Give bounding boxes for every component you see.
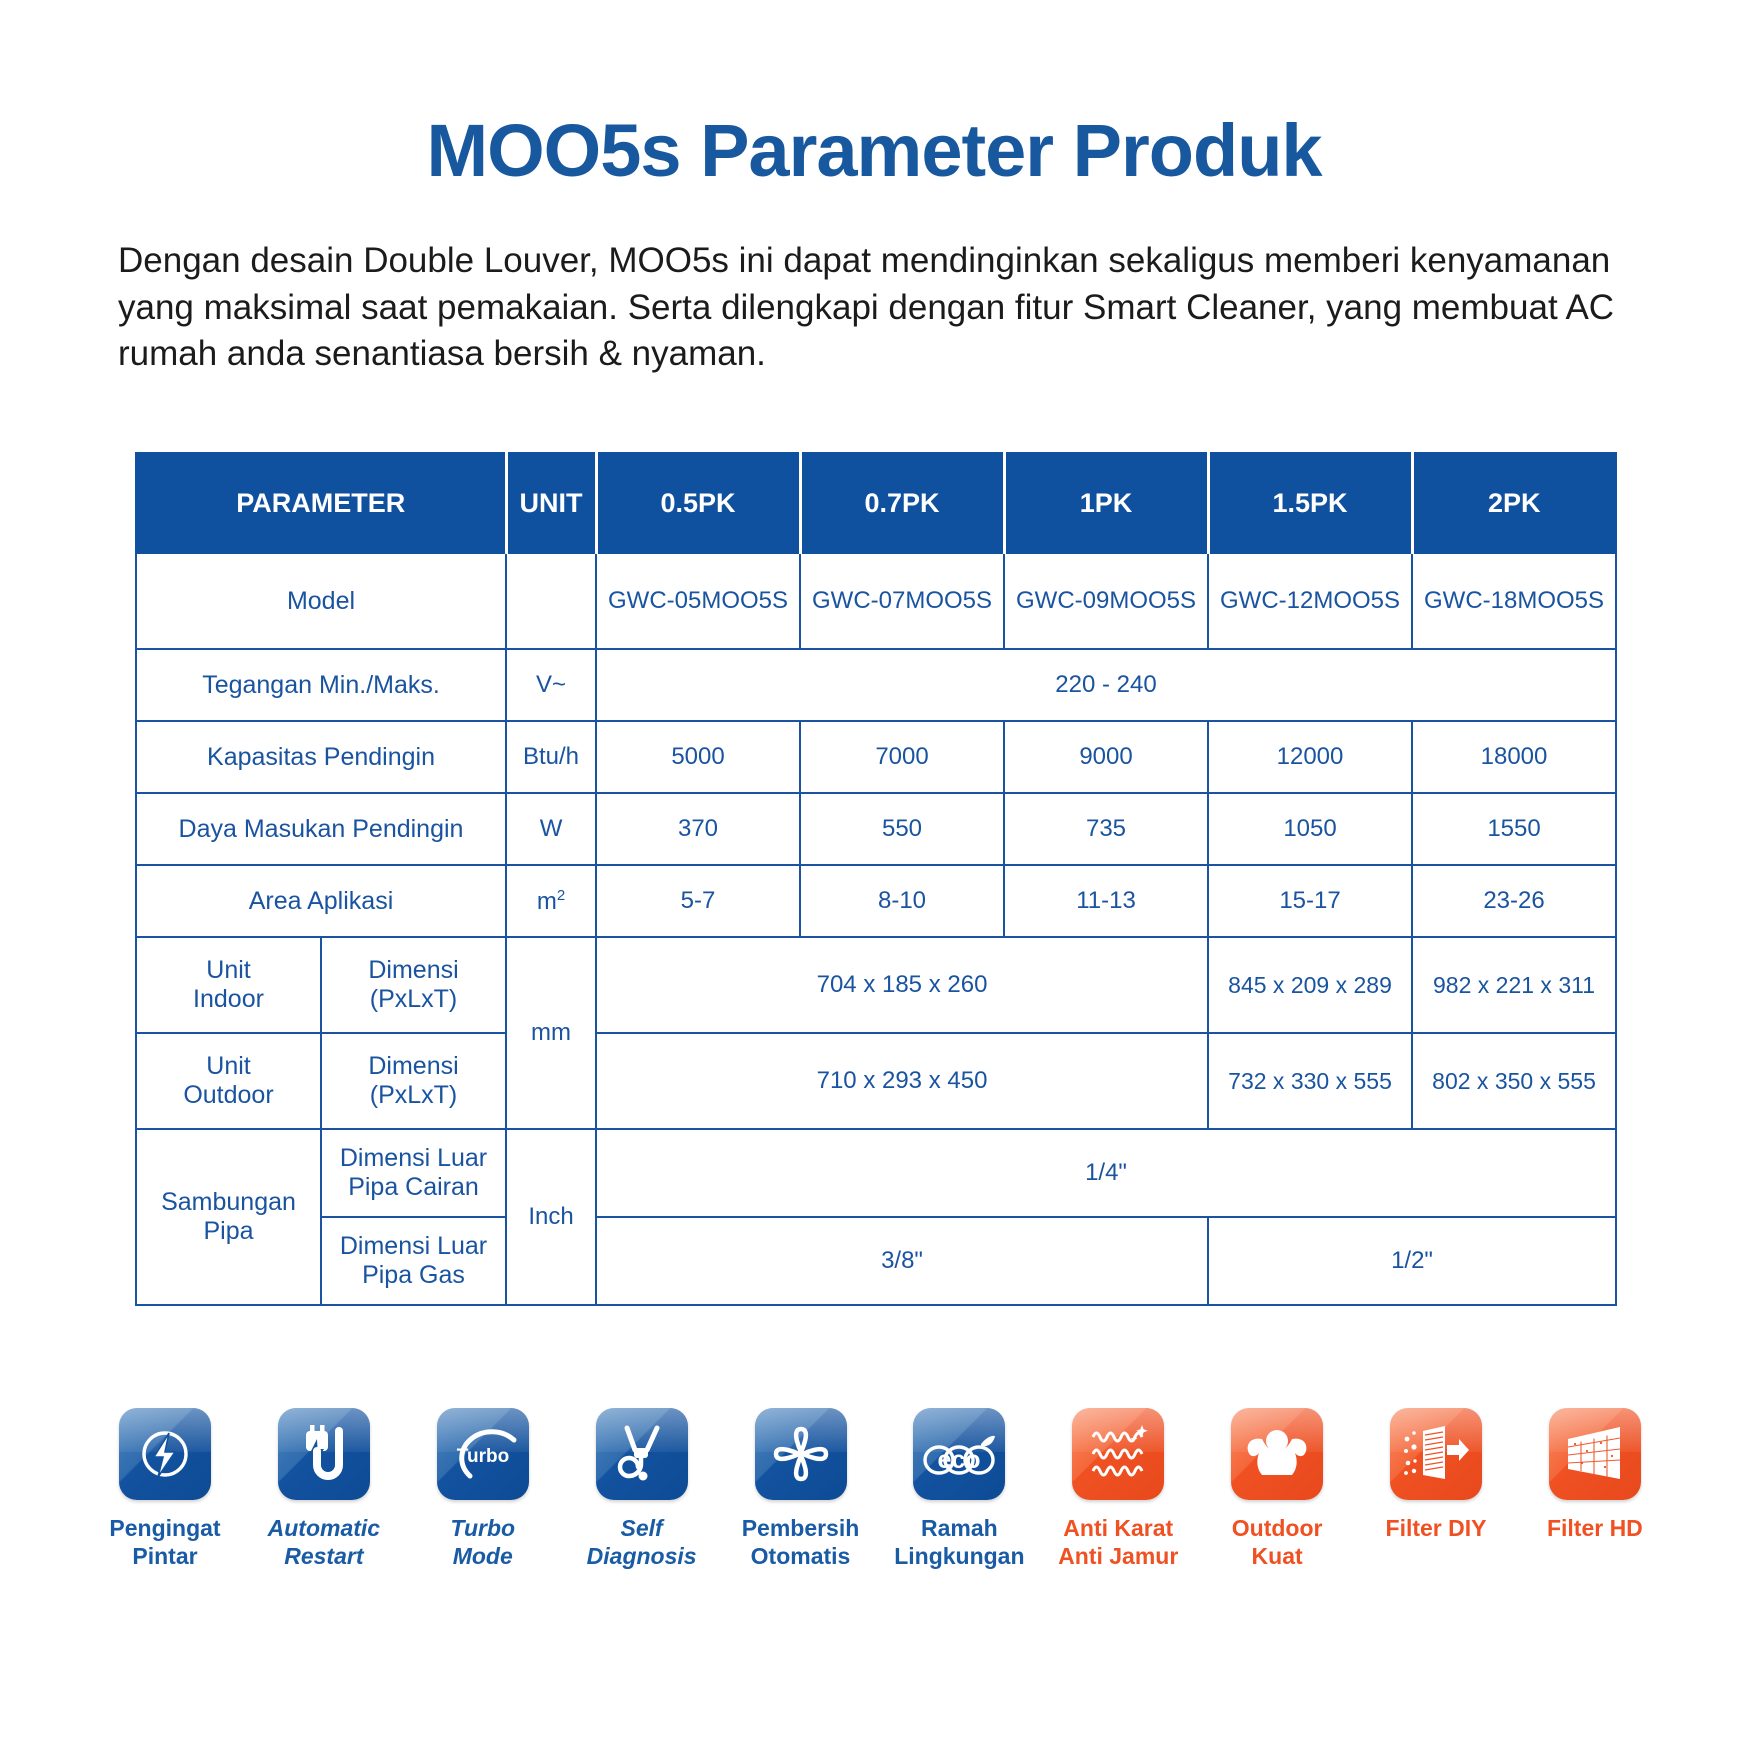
cell-pipa-gas-small: 3/8": [596, 1217, 1208, 1305]
stethoscope-icon: [596, 1408, 688, 1500]
cell-outdoor-dim-2pk: 802 x 350 x 555: [1412, 1033, 1616, 1129]
feature-label: Pembersih Otomatis: [742, 1514, 860, 1570]
table-row-unit-outdoor: Unit Outdoor Dimensi (PxLxT) 710 x 293 x…: [136, 1033, 1616, 1129]
feature-label: Self Diagnosis: [587, 1514, 697, 1570]
cell-area-1pk: 11-13: [1004, 865, 1208, 937]
feature-automatic-restart[interactable]: Automatic Restart: [249, 1408, 399, 1570]
row-unit-area: m2: [506, 865, 596, 937]
cell-pipa-gas-large: 1/2": [1208, 1217, 1616, 1305]
cell-model-2pk: GWC-18MOO5S: [1412, 553, 1616, 649]
row-group-unit-indoor: Unit Indoor: [136, 937, 321, 1033]
auto-restart-plug-icon: [278, 1408, 370, 1500]
strong-muscle-icon: [1231, 1408, 1323, 1500]
feature-anti-karat[interactable]: Anti Karat Anti Jamur: [1043, 1408, 1193, 1570]
cell-model-1-5pk: GWC-12MOO5S: [1208, 553, 1412, 649]
cell-daya-1pk: 735: [1004, 793, 1208, 865]
row-unit-model: [506, 553, 596, 649]
auto-clean-fan-icon: [755, 1408, 847, 1500]
row-unit-kapasitas: Btu/h: [506, 721, 596, 793]
turbo-icon-text: Turbo: [457, 1446, 509, 1467]
row-unit-tegangan: V~: [506, 649, 596, 721]
table-row-model: Model GWC-05MOO5S GWC-07MOO5S GWC-09MOO5…: [136, 553, 1616, 649]
label-line-1: Dimensi Luar: [326, 1144, 501, 1173]
table-row-area: Area Aplikasi m2 5-7 8-10 11-13 15-17 23…: [136, 865, 1616, 937]
label-line-1: Filter HD: [1547, 1514, 1643, 1542]
cell-outdoor-dim-1-5pk: 732 x 330 x 555: [1208, 1033, 1412, 1129]
feature-label: Filter DIY: [1386, 1514, 1487, 1542]
cell-kapasitas-1pk: 9000: [1004, 721, 1208, 793]
label-line-2: Kuat: [1232, 1542, 1323, 1570]
label-line-2: Restart: [268, 1542, 380, 1570]
label-line-2: Otomatis: [742, 1542, 860, 1570]
spec-table-wrapper: PARAMETER UNIT 0.5PK 0.7PK 1PK 1.5PK 2PK…: [135, 452, 1615, 1306]
turbo-icon: Turbo: [437, 1408, 529, 1500]
feature-filter-hd[interactable]: Filter HD: [1520, 1408, 1670, 1542]
header-0-5pk: 0.5PK: [596, 453, 800, 553]
row-label-model: Model: [136, 553, 506, 649]
label-line-1: Pembersih: [742, 1514, 860, 1542]
row-group-sambungan-pipa: Sambungan Pipa: [136, 1129, 321, 1305]
table-header-row: PARAMETER UNIT 0.5PK 0.7PK 1PK 1.5PK 2PK: [136, 453, 1616, 553]
cell-model-1pk: GWC-09MOO5S: [1004, 553, 1208, 649]
page-title: MOO5s Parameter Produk: [0, 108, 1748, 193]
label-line-1: Turbo: [450, 1514, 515, 1542]
header-0-7pk: 0.7PK: [800, 453, 1004, 553]
cell-indoor-dim-1-5pk: 845 x 209 x 289: [1208, 937, 1412, 1033]
filter-hd-icon: [1549, 1408, 1641, 1500]
smart-reminder-icon: [119, 1408, 211, 1500]
feature-label: Ramah Lingkungan: [894, 1514, 1024, 1570]
cell-model-0-7pk: GWC-07MOO5S: [800, 553, 1004, 649]
feature-outdoor-kuat[interactable]: Outdoor Kuat: [1202, 1408, 1352, 1570]
feature-label: Outdoor Kuat: [1232, 1514, 1323, 1570]
cell-pipa-cairan-all: 1/4": [596, 1129, 1616, 1217]
row-label-area: Area Aplikasi: [136, 865, 506, 937]
row-label-daya: Daya Masukan Pendingin: [136, 793, 506, 865]
group-line-1: Sambungan: [141, 1188, 316, 1217]
product-spec-page: MOO5s Parameter Produk Dengan desain Dou…: [0, 0, 1748, 1748]
table-row-pipa-cairan: Sambungan Pipa Dimensi Luar Pipa Cairan …: [136, 1129, 1616, 1217]
row-label-pipa-gas: Dimensi Luar Pipa Gas: [321, 1217, 506, 1305]
anti-rust-coil-icon: [1072, 1408, 1164, 1500]
group-line-2: Pipa: [141, 1217, 316, 1246]
label-line-1: Outdoor: [1232, 1514, 1323, 1542]
group-line-1: Unit: [141, 956, 316, 985]
cell-kapasitas-0-5pk: 5000: [596, 721, 800, 793]
label-line-1: Automatic: [268, 1514, 380, 1542]
row-label-dimensi-outdoor: Dimensi (PxLxT): [321, 1033, 506, 1129]
feature-icon-row: Pengingat Pintar Automatic Restart: [90, 1408, 1670, 1570]
cell-daya-2pk: 1550: [1412, 793, 1616, 865]
header-2pk: 2PK: [1412, 453, 1616, 553]
feature-filter-diy[interactable]: Filter DIY: [1361, 1408, 1511, 1542]
feature-label: Pengingat Pintar: [109, 1514, 220, 1570]
cell-kapasitas-0-7pk: 7000: [800, 721, 1004, 793]
table-row-kapasitas: Kapasitas Pendingin Btu/h 5000 7000 9000…: [136, 721, 1616, 793]
group-line-2: Outdoor: [141, 1081, 316, 1110]
unit-base: m: [537, 888, 557, 915]
unit-superscript: 2: [557, 887, 565, 904]
label-line-2: Pipa Cairan: [326, 1173, 501, 1202]
header-parameter: PARAMETER: [136, 453, 506, 553]
header-1-5pk: 1.5PK: [1208, 453, 1412, 553]
label-line-1: Filter DIY: [1386, 1514, 1487, 1542]
cell-outdoor-dim-small: 710 x 293 x 450: [596, 1033, 1208, 1129]
cell-indoor-dim-small: 704 x 185 x 260: [596, 937, 1208, 1033]
feature-pengingat-pintar[interactable]: Pengingat Pintar: [90, 1408, 240, 1570]
row-group-unit-outdoor: Unit Outdoor: [136, 1033, 321, 1129]
table-row-tegangan: Tegangan Min./Maks. V~ 220 - 240: [136, 649, 1616, 721]
feature-label: Filter HD: [1547, 1514, 1643, 1542]
cell-area-2pk: 23-26: [1412, 865, 1616, 937]
label-line-1: Anti Karat: [1058, 1514, 1178, 1542]
label-line-1: Dimensi Luar: [326, 1232, 501, 1261]
label-line-2: (PxLxT): [326, 1081, 501, 1110]
cell-area-0-7pk: 8-10: [800, 865, 1004, 937]
header-1pk: 1PK: [1004, 453, 1208, 553]
label-line-1: Self: [587, 1514, 697, 1542]
row-label-dimensi-indoor: Dimensi (PxLxT): [321, 937, 506, 1033]
feature-ramah-lingkungan[interactable]: eco Ramah Lingkungan: [884, 1408, 1034, 1570]
cell-tegangan-all: 220 - 240: [596, 649, 1616, 721]
cell-kapasitas-2pk: 18000: [1412, 721, 1616, 793]
header-unit: UNIT: [506, 453, 596, 553]
eco-icon-text: eco: [938, 1446, 981, 1474]
label-line-2: Lingkungan: [894, 1542, 1024, 1570]
row-label-tegangan: Tegangan Min./Maks.: [136, 649, 506, 721]
feature-label: Anti Karat Anti Jamur: [1058, 1514, 1178, 1570]
cell-indoor-dim-2pk: 982 x 221 x 311: [1412, 937, 1616, 1033]
row-unit-inch: Inch: [506, 1129, 596, 1305]
cell-area-0-5pk: 5-7: [596, 865, 800, 937]
table-row-daya: Daya Masukan Pendingin W 370 550 735 105…: [136, 793, 1616, 865]
cell-model-0-5pk: GWC-05MOO5S: [596, 553, 800, 649]
feature-label: Turbo Mode: [450, 1514, 515, 1570]
feature-pembersih-otomatis[interactable]: Pembersih Otomatis: [726, 1408, 876, 1570]
row-label-pipa-cairan: Dimensi Luar Pipa Cairan: [321, 1129, 506, 1217]
row-unit-daya: W: [506, 793, 596, 865]
label-line-1: Dimensi: [326, 956, 501, 985]
row-label-kapasitas: Kapasitas Pendingin: [136, 721, 506, 793]
cell-daya-0-5pk: 370: [596, 793, 800, 865]
feature-label: Automatic Restart: [268, 1514, 380, 1570]
cell-daya-1-5pk: 1050: [1208, 793, 1412, 865]
group-line-2: Indoor: [141, 985, 316, 1014]
row-unit-mm: mm: [506, 937, 596, 1129]
label-line-2: Pipa Gas: [326, 1261, 501, 1290]
cell-kapasitas-1-5pk: 12000: [1208, 721, 1412, 793]
label-line-2: Mode: [450, 1542, 515, 1570]
label-line-2: Anti Jamur: [1058, 1542, 1178, 1570]
label-line-2: Diagnosis: [587, 1542, 697, 1570]
label-line-2: Pintar: [109, 1542, 220, 1570]
cell-daya-0-7pk: 550: [800, 793, 1004, 865]
table-row-unit-indoor: Unit Indoor Dimensi (PxLxT) mm 704 x 185…: [136, 937, 1616, 1033]
cell-area-1-5pk: 15-17: [1208, 865, 1412, 937]
label-line-1: Ramah: [894, 1514, 1024, 1542]
label-line-1: Pengingat: [109, 1514, 220, 1542]
table-row-pipa-gas: Dimensi Luar Pipa Gas 3/8" 1/2": [136, 1217, 1616, 1305]
label-line-1: Dimensi: [326, 1052, 501, 1081]
filter-diy-icon: [1390, 1408, 1482, 1500]
intro-paragraph: Dengan desain Double Louver, MOO5s ini d…: [118, 238, 1638, 378]
group-line-1: Unit: [141, 1052, 316, 1081]
feature-turbo-mode[interactable]: Turbo Turbo Mode: [408, 1408, 558, 1570]
eco-leaf-icon: eco: [913, 1408, 1005, 1500]
spec-table: PARAMETER UNIT 0.5PK 0.7PK 1PK 1.5PK 2PK…: [135, 452, 1617, 1306]
feature-self-diagnosis[interactable]: Self Diagnosis: [567, 1408, 717, 1570]
label-line-2: (PxLxT): [326, 985, 501, 1014]
